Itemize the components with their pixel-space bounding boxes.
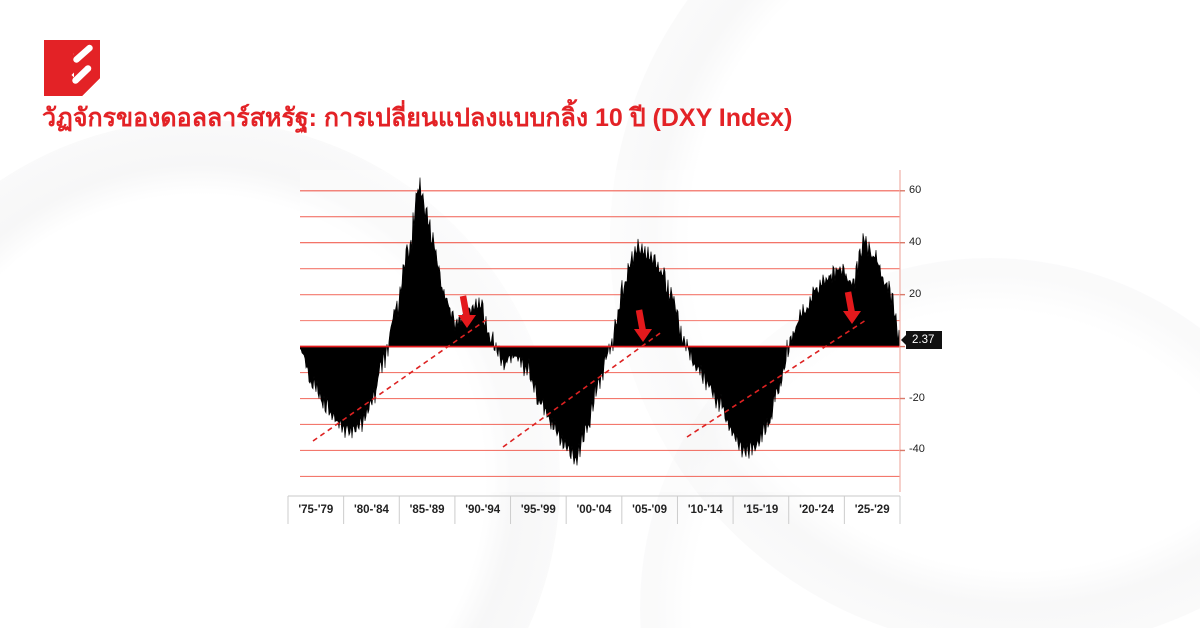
screenshot-canvas: วัฏจักรของดอลลาร์สหรัฐ: การเปลี่ยนแปลงแบ… xyxy=(0,0,1200,628)
y-tick-label-60: 60 xyxy=(909,184,921,196)
x-tick-label-6: '05-'09 xyxy=(622,504,678,516)
y-tick-label-20: 20 xyxy=(909,288,921,300)
x-tick-label-0: '75-'79 xyxy=(288,504,344,516)
x-tick-label-8: '15-'19 xyxy=(733,504,789,516)
y-tick-label--20: -20 xyxy=(909,392,925,404)
x-tick-label-10: '25-'29 xyxy=(844,504,900,516)
x-tick-label-3: '90-'94 xyxy=(455,504,511,516)
last-price-tag: 2.37 xyxy=(906,331,942,349)
y-tick-label--40: -40 xyxy=(909,443,925,455)
chart-canvas xyxy=(0,0,1200,628)
x-tick-label-9: '20-'24 xyxy=(789,504,845,516)
y-tick-label-40: 40 xyxy=(909,236,921,248)
x-tick-label-2: '85-'89 xyxy=(399,504,455,516)
x-tick-label-5: '00-'04 xyxy=(566,504,622,516)
x-tick-label-4: '95-'99 xyxy=(511,504,567,516)
x-tick-label-1: '80-'84 xyxy=(344,504,400,516)
dxy-rolling-10y-chart: 6040200-20-40 '75-'79'80-'84'85-'89'90-'… xyxy=(0,0,1200,628)
x-tick-label-7: '10-'14 xyxy=(677,504,733,516)
y-tick-group xyxy=(900,191,905,451)
